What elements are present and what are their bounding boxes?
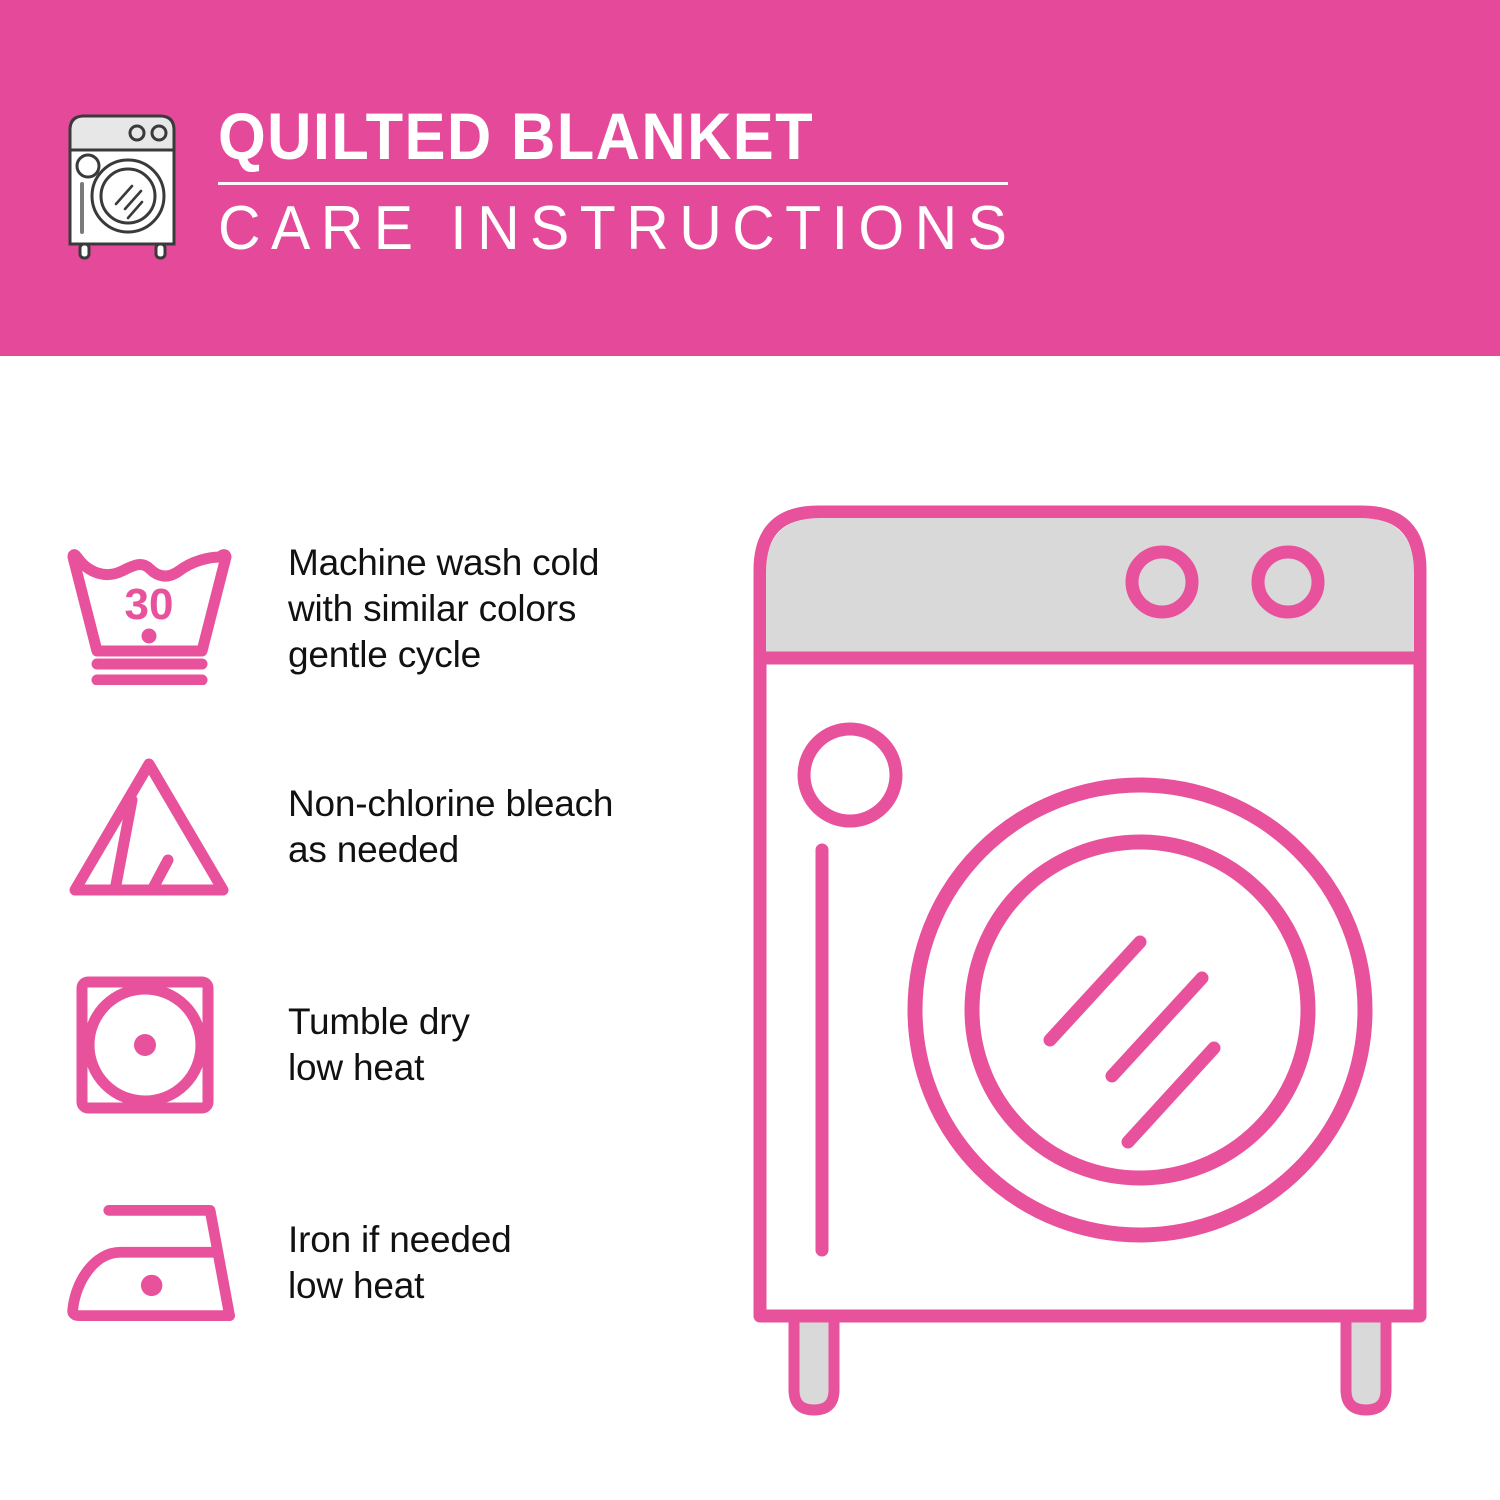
header-content: QUILTED BLANKET CARE INSTRUCTIONS [62, 100, 1059, 268]
instruction-line: with similar colors [288, 586, 599, 632]
header-title-block: QUILTED BLANKET CARE INSTRUCTIONS [218, 100, 1059, 264]
washing-machine-icon [62, 108, 190, 268]
page-subtitle: CARE INSTRUCTIONS [218, 194, 1017, 264]
instruction-label: Non-chlorine bleach as needed [288, 781, 613, 873]
title-divider [218, 182, 1008, 185]
instruction-label: Machine wash cold with similar colors ge… [288, 540, 599, 678]
washer-feet [794, 1310, 1386, 1410]
front-load-washing-machine-illustration [720, 470, 1460, 1430]
instruction-line: gentle cycle [288, 632, 599, 678]
wash-temperature-label: 30 [125, 580, 174, 629]
machine-wash-30-gentle-icon: 30 [62, 533, 252, 685]
instruction-line: low heat [288, 1263, 511, 1309]
list-item: Tumble dry low heat [62, 936, 702, 1154]
list-item: Non-chlorine bleach as needed [62, 718, 702, 936]
instruction-label: Iron if needed low heat [288, 1217, 511, 1309]
list-item: Iron if needed low heat [62, 1154, 702, 1372]
instruction-line: as needed [288, 827, 613, 873]
page-title: QUILTED BLANKET [218, 100, 1001, 172]
instruction-line: Machine wash cold [288, 540, 599, 586]
header-banner: QUILTED BLANKET CARE INSTRUCTIONS [0, 0, 1500, 356]
tumble-dry-low-icon [62, 970, 252, 1120]
list-item: 30 Machine wash cold with similar colors… [62, 500, 702, 718]
instruction-label: Tumble dry low heat [288, 999, 470, 1091]
instruction-line: Non-chlorine bleach [288, 781, 613, 827]
instruction-line: low heat [288, 1045, 470, 1091]
iron-low-heat-icon [62, 1193, 252, 1333]
instruction-line: Iron if needed [288, 1217, 511, 1263]
care-instruction-list: 30 Machine wash cold with similar colors… [62, 500, 702, 1372]
non-chlorine-bleach-icon [62, 752, 252, 902]
instruction-line: Tumble dry [288, 999, 470, 1045]
